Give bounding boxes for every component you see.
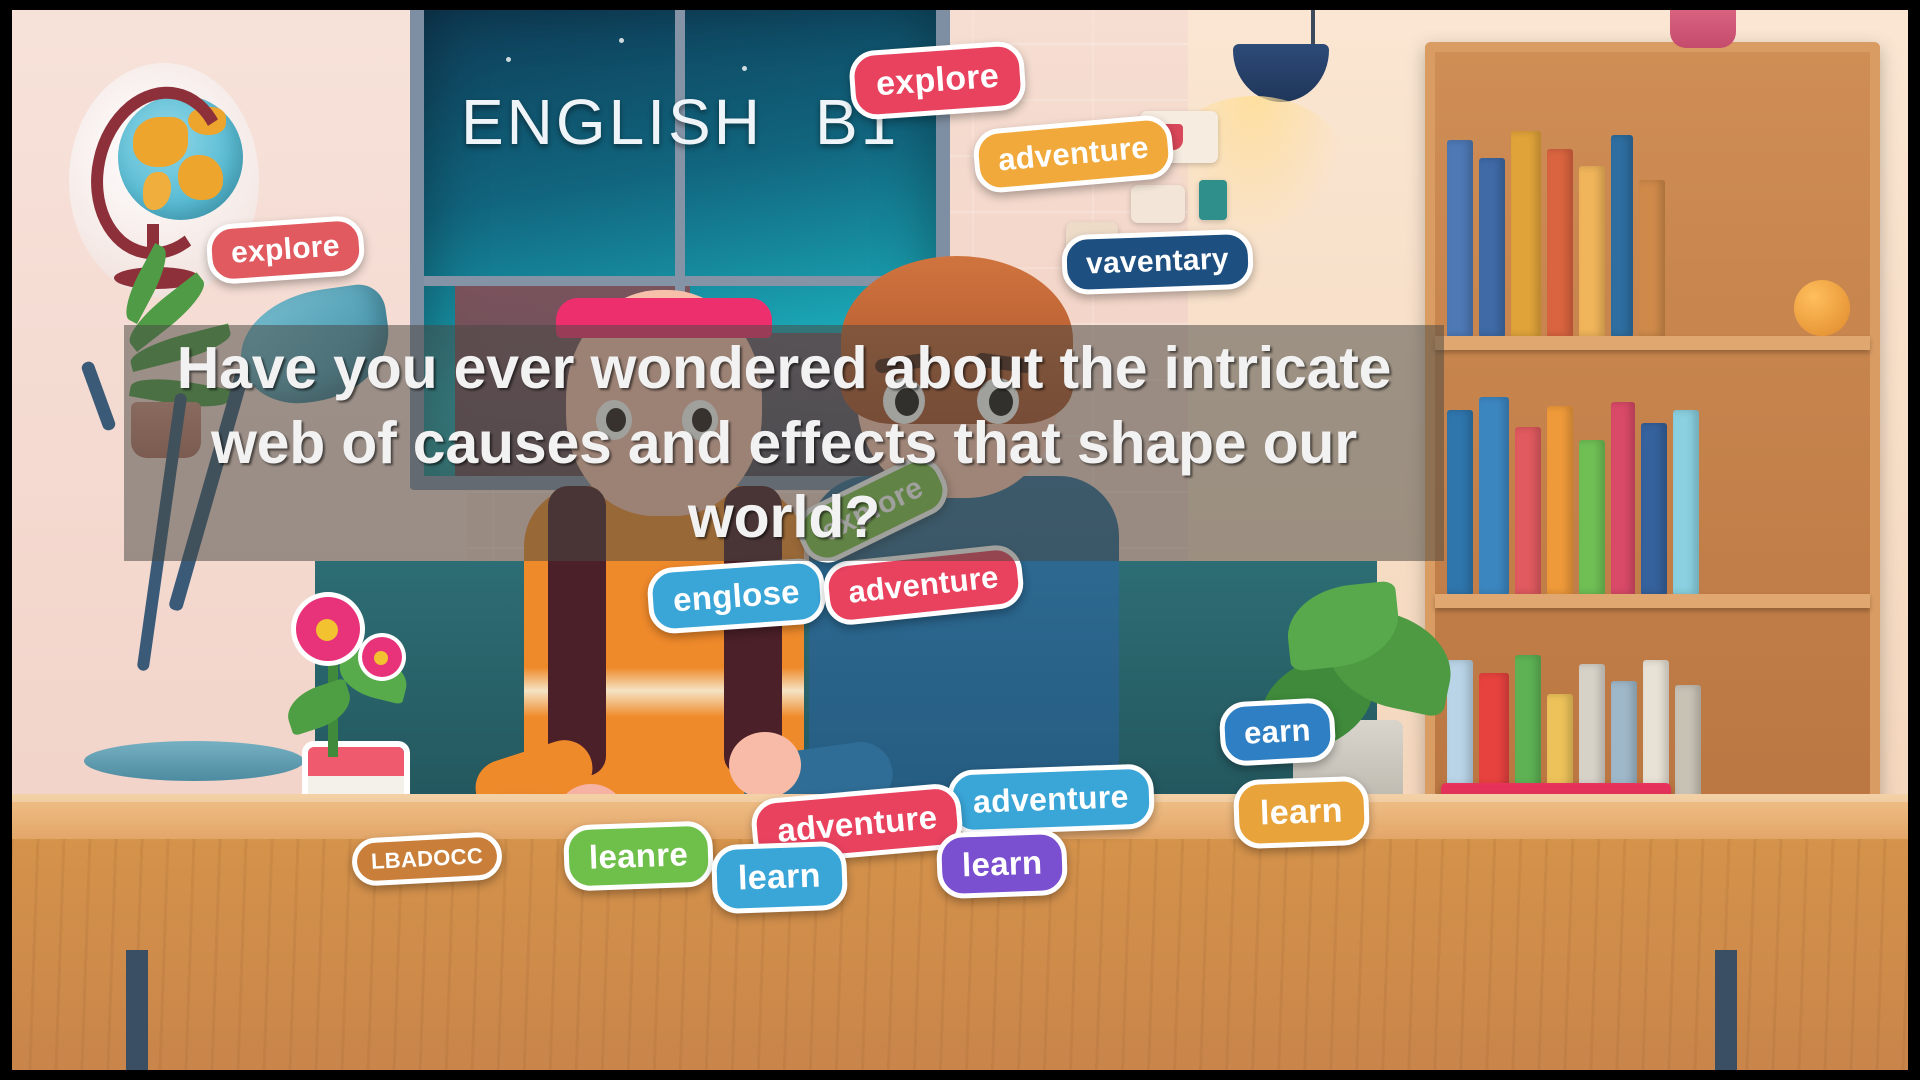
letterbox-right [1908,0,1920,1080]
wall-note-3 [1199,180,1227,220]
word-sticker-label: earn [1243,712,1311,751]
letterbox-left [0,0,12,1080]
desk-leg [1715,950,1737,1070]
star-icon [619,38,624,43]
shelf-board [1435,594,1870,608]
window-sign-language: ENGLISH [461,86,763,158]
pendant-cord [1311,10,1315,48]
word-sticker: learn [711,841,848,915]
star-icon [742,66,747,71]
shelf-row-middle [1447,380,1858,594]
shelf-row-top [1447,113,1858,336]
word-sticker-label: learn [1259,792,1343,834]
wall-note-2 [1131,185,1185,223]
star-icon [506,57,511,62]
word-sticker-label: adventure [997,129,1150,178]
word-sticker-label: adventure [972,778,1129,820]
word-sticker-label: explore [230,229,341,271]
word-sticker: earn [1218,697,1336,767]
word-sticker: learn [936,829,1069,900]
letterbox-bottom [0,1070,1920,1080]
word-sticker: vaventary [1061,229,1254,296]
shelf-board [1435,336,1870,350]
word-sticker: leanre [563,820,714,891]
word-sticker: explore [205,215,366,286]
word-sticker: learn [1233,776,1370,850]
shelf-flower-pot [1670,10,1736,48]
word-sticker-label: LBADOCC [370,843,483,875]
word-sticker-label: learn [961,844,1043,885]
screenshot-canvas: ENGLISHB1 [0,0,1920,1080]
desk-leg [126,950,148,1070]
caption-overlay: Have you ever wondered about the intrica… [124,325,1444,561]
word-sticker-label: explore [875,57,1000,104]
caption-text: Have you ever wondered about the intrica… [124,331,1444,556]
word-sticker-label: learn [737,857,821,899]
word-sticker: explore [848,40,1027,121]
word-sticker-label: englose [672,573,801,620]
word-sticker: englose [646,557,827,635]
word-sticker: LBADOCC [351,831,503,887]
word-sticker: adventure [947,763,1155,835]
word-sticker-label: leanre [588,835,688,876]
word-sticker-label: adventure [847,559,1001,611]
letterbox-top [0,0,1920,10]
word-sticker-label: vaventary [1085,243,1229,282]
